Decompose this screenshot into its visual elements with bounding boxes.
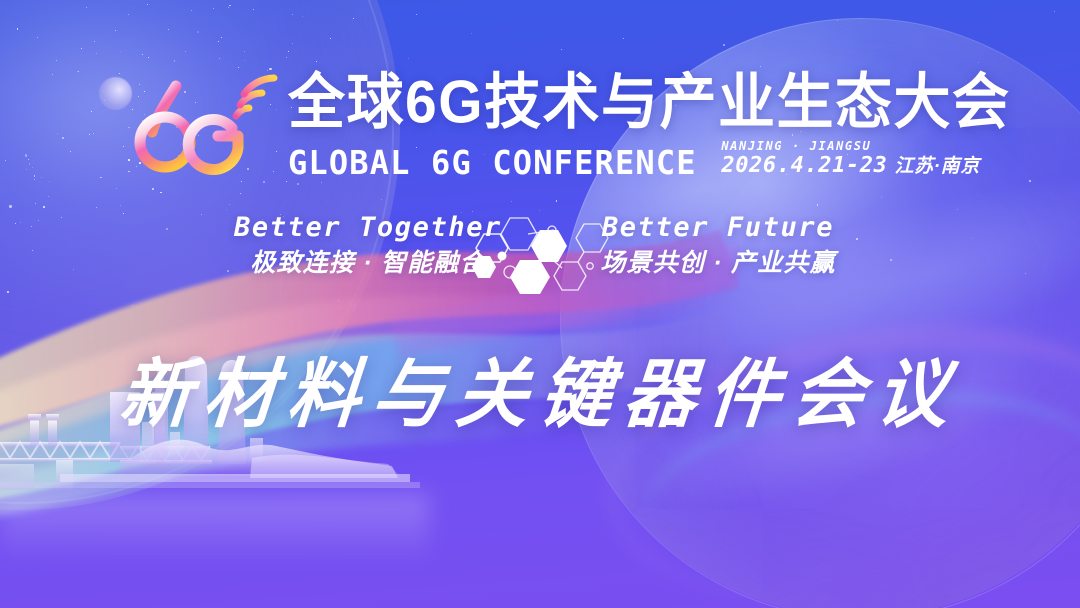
slogan-right-cn: 场景共创 · 产业共赢: [568, 247, 868, 279]
conference-date: 2026.4.21-23: [721, 154, 887, 178]
conference-title-cn: 全球6G技术与产业生态大会: [288, 70, 1011, 134]
location-cn: 江苏·南京: [895, 155, 980, 179]
six-g-signal-logo: [128, 72, 278, 182]
slogan-row: Better Together 极致连接 · 智能融合: [0, 212, 1080, 304]
slogan-right-en: Better Future: [568, 212, 868, 244]
conference-title-en: GLOBAL 6G CONFERENCE: [288, 146, 697, 180]
slogan-right: Better Future 场景共创 · 产业共赢: [568, 212, 868, 279]
location-en: NANJING · JIANGSU: [721, 140, 979, 153]
date-location-block: NANJING · JIANGSU 2026.4.21-23 江苏·南京: [721, 140, 979, 180]
title-block: 全球6G技术与产业生态大会 GLOBAL 6G CONFERENCE NANJI…: [288, 74, 1011, 182]
session-headline: 新材料与关键器件会议: [0, 346, 1080, 442]
conference-banner: 全球6G技术与产业生态大会 GLOBAL 6G CONFERENCE NANJI…: [0, 0, 1080, 608]
